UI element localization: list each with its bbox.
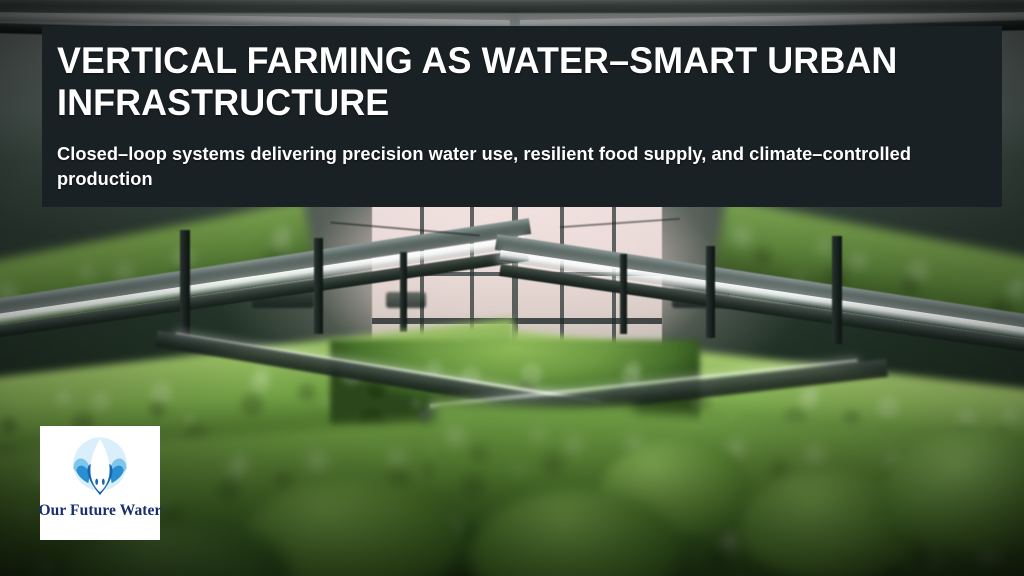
slide-canvas: VERTICAL FARMING AS WATER–SMART URBAN IN…: [0, 0, 1024, 576]
ceiling-rail: [0, 0, 1024, 13]
rack-support-post: [400, 252, 407, 332]
page-subtitle: Closed–loop systems delivering precision…: [57, 141, 968, 191]
logo-organization-name: Our Future Water: [39, 502, 162, 520]
water-drop-emblem-icon: [63, 433, 137, 501]
rack-support-post: [180, 230, 190, 340]
rack-support-post: [706, 246, 715, 338]
page-title: VERTICAL FARMING AS WATER–SMART URBAN IN…: [57, 40, 954, 124]
window-mullion: [372, 318, 662, 324]
header-overlay-panel: VERTICAL FARMING AS WATER–SMART URBAN IN…: [42, 26, 1002, 207]
rack-support-post: [314, 238, 323, 334]
logo-card[interactable]: Our Future Water: [40, 426, 160, 540]
rack-support-post: [620, 254, 627, 334]
rack-support-post: [832, 236, 842, 344]
